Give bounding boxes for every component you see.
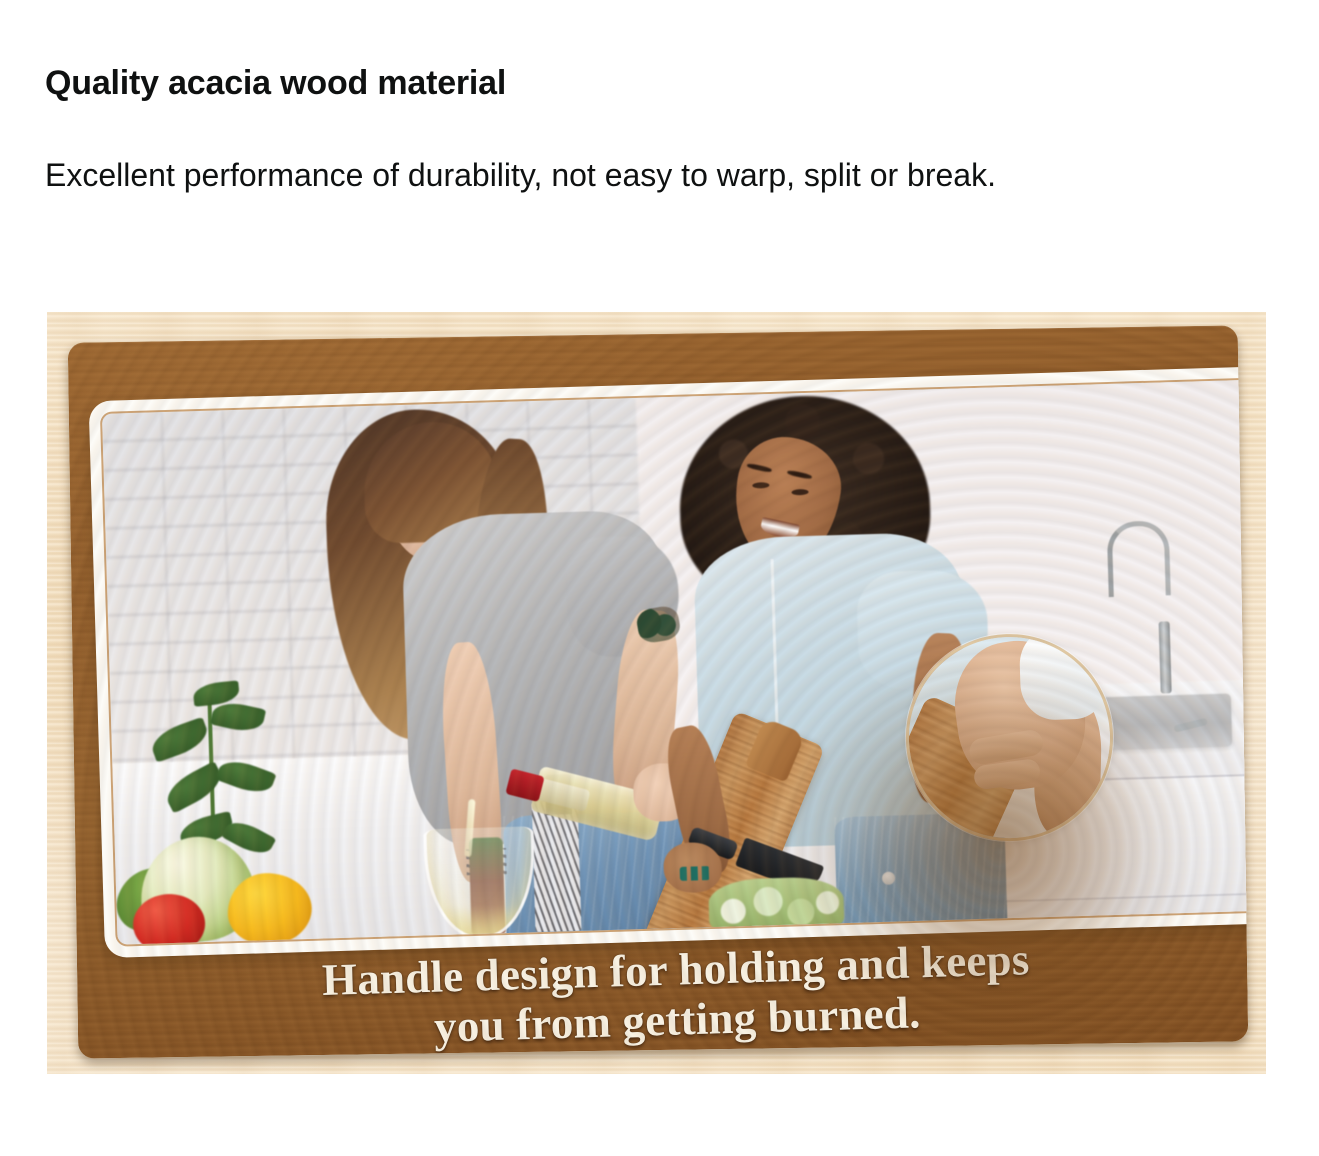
kitchen-scene-photo: [102, 379, 1248, 944]
chopped-greens: [708, 876, 845, 938]
brown-wood-plaque: Handle design for holding and keeps you …: [68, 325, 1248, 1058]
green-nail-polish: [680, 866, 710, 881]
plant-leaf: [147, 716, 211, 762]
feature-description: Excellent performance of durability, not…: [45, 150, 1260, 202]
plant-leaf: [161, 760, 227, 813]
jeans-button: [882, 871, 895, 884]
feature-image: Handle design for holding and keeps you …: [47, 312, 1266, 1074]
handle-closeup-magnifier: [903, 631, 1116, 844]
faucet-icon: [1106, 520, 1170, 597]
photo-card: [89, 366, 1249, 958]
magnifier-sleeve: [1018, 631, 1107, 721]
page-title: Quality acacia wood material: [45, 64, 506, 103]
plant-leaf: [192, 680, 240, 706]
plant-leaf: [215, 754, 277, 798]
product-feature-module: Quality acacia wood material Excellent p…: [0, 0, 1319, 1156]
photo-frame-inner: [100, 377, 1248, 946]
person-right-eye: [792, 489, 809, 496]
faucet-stem: [1158, 621, 1171, 693]
